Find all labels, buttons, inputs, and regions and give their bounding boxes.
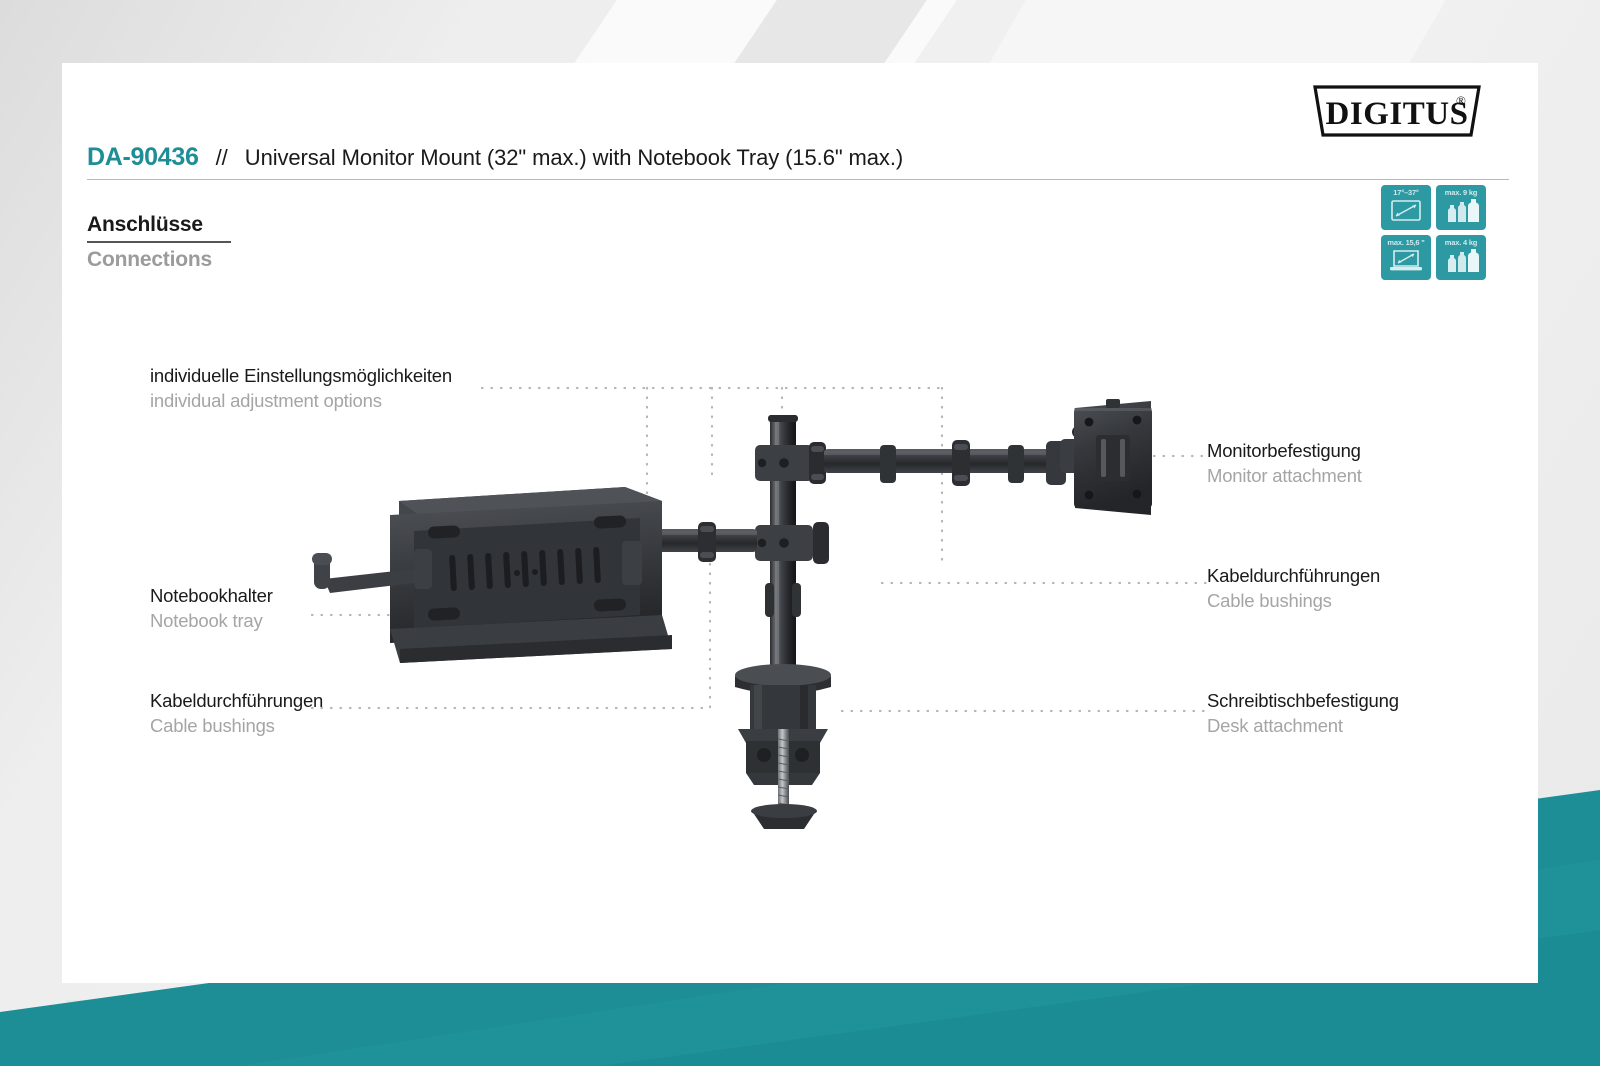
- callout-notebook-tray: Notebookhalter Notebook tray: [150, 583, 273, 633]
- callout-label-en: Monitor attachment: [1207, 463, 1362, 488]
- callout-desk-attachment: Schreibtischbefestigung Desk attachment: [1207, 688, 1399, 738]
- callout-label-de: Kabeldurchführungen: [1207, 563, 1380, 588]
- callout-label-en: Cable bushings: [1207, 588, 1380, 613]
- callout-cable-bushings-right: Kabeldurchführungen Cable bushings: [1207, 563, 1380, 613]
- monitor-diagonal-icon: [1381, 198, 1431, 227]
- lower-notebook-arm: [502, 521, 829, 564]
- callout-individual-adjustment: individuelle Einstellungsmöglichkeiten i…: [150, 363, 452, 413]
- notebook-tray-plate: [312, 487, 672, 663]
- weight-bottles-icon: [1436, 248, 1486, 277]
- callout-label-de: individuelle Einstellungsmöglichkeiten: [150, 363, 452, 388]
- callout-label-en: Cable bushings: [150, 713, 323, 738]
- badge-caption: max. 9 kg: [1436, 188, 1486, 197]
- vesa-monitor-plate: [1060, 399, 1152, 515]
- product-illustration: [62, 63, 1538, 983]
- leader-lines: [312, 388, 1207, 711]
- spec-badge-group: 17°–37° max. 9 kg: [1381, 185, 1486, 280]
- weight-bottles-icon: [1436, 198, 1486, 227]
- badge-monitor-max-weight: max. 9 kg: [1436, 185, 1486, 230]
- callout-label-en: individual adjustment options: [150, 388, 452, 413]
- section-heading: Anschlüsse Connections: [87, 213, 231, 272]
- content-card: DIGITUS ® DA-90436 // Universal Monitor …: [62, 63, 1538, 983]
- product-title-row: DA-90436 // Universal Monitor Mount (32"…: [87, 143, 1507, 172]
- notebook-diagonal-icon: [1381, 248, 1431, 277]
- callout-label-de: Kabeldurchführungen: [150, 688, 323, 713]
- upper-monitor-arm: [755, 440, 1066, 486]
- callout-label-en: Notebook tray: [150, 608, 273, 633]
- badge-notebook-size: max. 15,6 ": [1381, 235, 1431, 280]
- desk-clamp: [735, 664, 831, 829]
- product-sku: DA-90436: [87, 143, 199, 172]
- background-facet: [985, 0, 1474, 70]
- badge-caption: max. 4 kg: [1436, 238, 1486, 247]
- page-title: Universal Monitor Mount (32" max.) with …: [245, 145, 903, 171]
- badge-notebook-max-weight: max. 4 kg: [1436, 235, 1486, 280]
- logo-wordmark: DIGITUS: [1326, 96, 1469, 132]
- callout-label-de: Schreibtischbefestigung: [1207, 688, 1399, 713]
- datasheet-page: DIGITUS ® DA-90436 // Universal Monitor …: [0, 0, 1600, 1066]
- callout-cable-bushings-left: Kabeldurchführungen Cable bushings: [150, 688, 323, 738]
- digitus-logo: DIGITUS ®: [1311, 84, 1483, 138]
- section-heading-rule: [87, 241, 231, 243]
- callout-monitor-attachment: Monitorbefestigung Monitor attachment: [1207, 438, 1362, 488]
- title-divider: [87, 179, 1509, 180]
- logo-registered-mark: ®: [1456, 93, 1466, 108]
- callout-label-en: Desk attachment: [1207, 713, 1399, 738]
- badge-caption: 17°–37°: [1381, 188, 1431, 197]
- callout-label-de: Notebookhalter: [150, 583, 273, 608]
- section-heading-de: Anschlüsse: [87, 213, 231, 237]
- title-separator: //: [216, 145, 228, 171]
- badge-tilt-range: 17°–37°: [1381, 185, 1431, 230]
- center-pole: [765, 415, 801, 683]
- badge-caption: max. 15,6 ": [1381, 238, 1431, 247]
- callout-label-de: Monitorbefestigung: [1207, 438, 1362, 463]
- section-heading-en: Connections: [87, 248, 231, 272]
